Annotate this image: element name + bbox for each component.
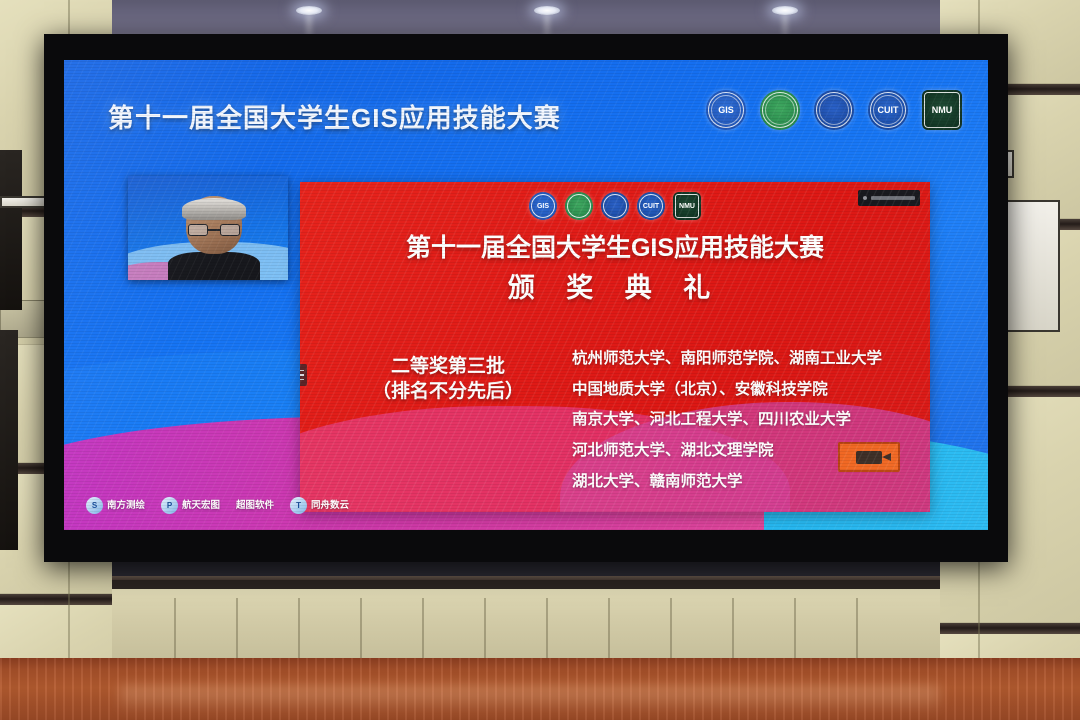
banner-logo-row: GIS CUIT NMU <box>706 90 962 130</box>
cuit-logo: CUIT <box>637 192 665 220</box>
seal-logo <box>814 90 854 130</box>
nmu-logo-text: NMU <box>932 106 953 115</box>
gis-logo-text: GIS <box>718 106 734 115</box>
award-slide-card[interactable]: GIS CUIT N <box>300 182 930 512</box>
sponsor-item: 超图软件 <box>236 501 274 511</box>
slide-drag-handle[interactable] <box>300 364 307 386</box>
marble-trim <box>0 594 112 605</box>
floor-reflection <box>120 686 940 714</box>
slide-title: 第十一届全国大学生GIS应用技能大赛 <box>300 228 930 264</box>
seal-logo <box>601 192 629 220</box>
sponsor-mark-icon: P <box>161 497 178 514</box>
pip-video-window[interactable] <box>128 176 288 280</box>
list-item: 南京大学、河北工程大学、四川农业大学 <box>572 405 908 436</box>
gis-logo: GIS <box>706 90 746 130</box>
sponsor-item: T 同舟数云 <box>290 497 349 514</box>
gis-logo: GIS <box>529 192 557 220</box>
award-category-label: 二等奖第三批 （排名不分先后） <box>348 354 548 404</box>
banner-title: 第十一届全国大学生GIS应用技能大赛 <box>108 98 561 135</box>
list-item: 中国地质大学（北京）、安徽科技学院 <box>572 375 908 406</box>
glasses-icon <box>188 224 240 236</box>
globe-logo <box>565 192 593 220</box>
wall-notice-board <box>1004 200 1060 332</box>
led-screen-bezel: 第十一届全国大学生GIS应用技能大赛 GIS CUIT <box>44 34 1008 562</box>
sponsor-item: S 南方测绘 <box>86 497 145 514</box>
slide-logo-row: GIS CUIT N <box>300 192 930 220</box>
cuit-logo-text: CUIT <box>643 203 659 210</box>
gis-logo-text: GIS <box>537 203 549 210</box>
nmu-logo-text: NMU <box>679 203 695 210</box>
sponsor-name: 同舟数云 <box>311 501 349 511</box>
slide-subtitle: 颁 奖 典 礼 <box>300 266 930 305</box>
wall-dark-strip <box>0 330 18 550</box>
sponsor-mark-icon: T <box>290 497 307 514</box>
nmu-logo: NMU <box>673 192 701 220</box>
university-list: 杭州师范大学、南阳师范学院、湖南工业大学 中国地质大学（北京）、安徽科技学院 南… <box>572 344 908 497</box>
sponsor-name: 超图软件 <box>236 501 274 511</box>
wall-dark-strip <box>0 150 22 310</box>
sponsor-mark-icon: S <box>86 497 103 514</box>
sponsor-item: P 航天宏图 <box>161 497 220 514</box>
room-scene: 第十一届全国大学生GIS应用技能大赛 GIS CUIT <box>0 0 1080 720</box>
sponsor-name: 航天宏图 <box>182 501 220 511</box>
award-line-1: 二等奖第三批 <box>348 354 548 379</box>
cuit-logo: CUIT <box>868 90 908 130</box>
globe-logo <box>760 90 800 130</box>
list-item: 杭州师范大学、南阳师范学院、湖南工业大学 <box>572 344 908 375</box>
sponsor-name: 南方测绘 <box>107 501 145 511</box>
pip-speaker-figure <box>170 208 258 280</box>
led-screen: 第十一届全国大学生GIS应用技能大赛 GIS CUIT <box>64 60 988 530</box>
cuit-logo-text: CUIT <box>878 106 899 115</box>
video-camera-icon[interactable] <box>838 442 900 472</box>
pip-hair <box>182 198 246 220</box>
pip-torso <box>168 252 260 280</box>
nmu-logo: NMU <box>922 90 962 130</box>
lower-wall-cabinet <box>112 580 940 658</box>
sponsor-strip: S 南方测绘 P 航天宏图 超图软件 T 同舟数云 <box>86 497 349 514</box>
marble-trim <box>940 623 1080 634</box>
award-line-2: （排名不分先后） <box>348 379 548 404</box>
